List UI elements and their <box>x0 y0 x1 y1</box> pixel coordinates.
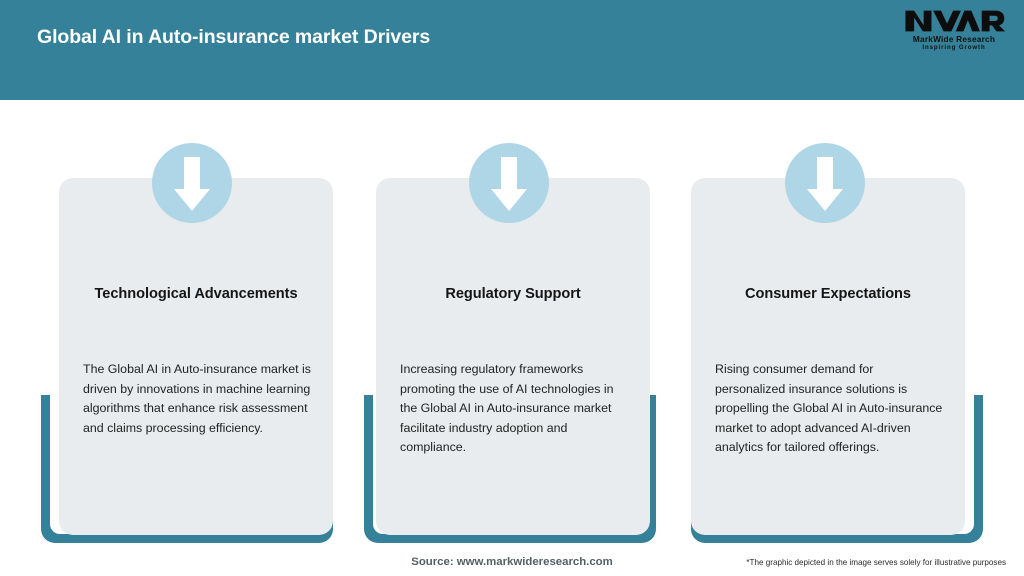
down-arrow-icon <box>785 143 865 223</box>
driver-card-2[interactable]: Regulatory Support Increasing regulatory… <box>364 143 656 543</box>
card-description: The Global AI in Auto-insurance market i… <box>83 360 311 438</box>
driver-cards: Technological Advancements The Global AI… <box>0 0 1024 576</box>
card-description: Increasing regulatory frameworks promoti… <box>400 360 628 458</box>
down-arrow-icon <box>152 143 232 223</box>
card-panel: Consumer Expectations Rising consumer de… <box>691 178 965 535</box>
card-badge <box>785 143 865 223</box>
card-panel: Technological Advancements The Global AI… <box>59 178 333 535</box>
card-title: Regulatory Support <box>376 286 650 302</box>
card-panel: Regulatory Support Increasing regulatory… <box>376 178 650 535</box>
driver-card-1[interactable]: Technological Advancements The Global AI… <box>41 143 333 543</box>
card-badge <box>469 143 549 223</box>
disclaimer-note: *The graphic depicted in the image serve… <box>746 558 1006 567</box>
card-title: Technological Advancements <box>59 286 333 302</box>
slide-canvas: Global AI in Auto-insurance market Drive… <box>0 0 1024 576</box>
down-arrow-icon <box>469 143 549 223</box>
driver-card-3[interactable]: Consumer Expectations Rising consumer de… <box>691 143 983 543</box>
card-title: Consumer Expectations <box>691 286 965 302</box>
card-description: Rising consumer demand for personalized … <box>715 360 943 458</box>
card-badge <box>152 143 232 223</box>
